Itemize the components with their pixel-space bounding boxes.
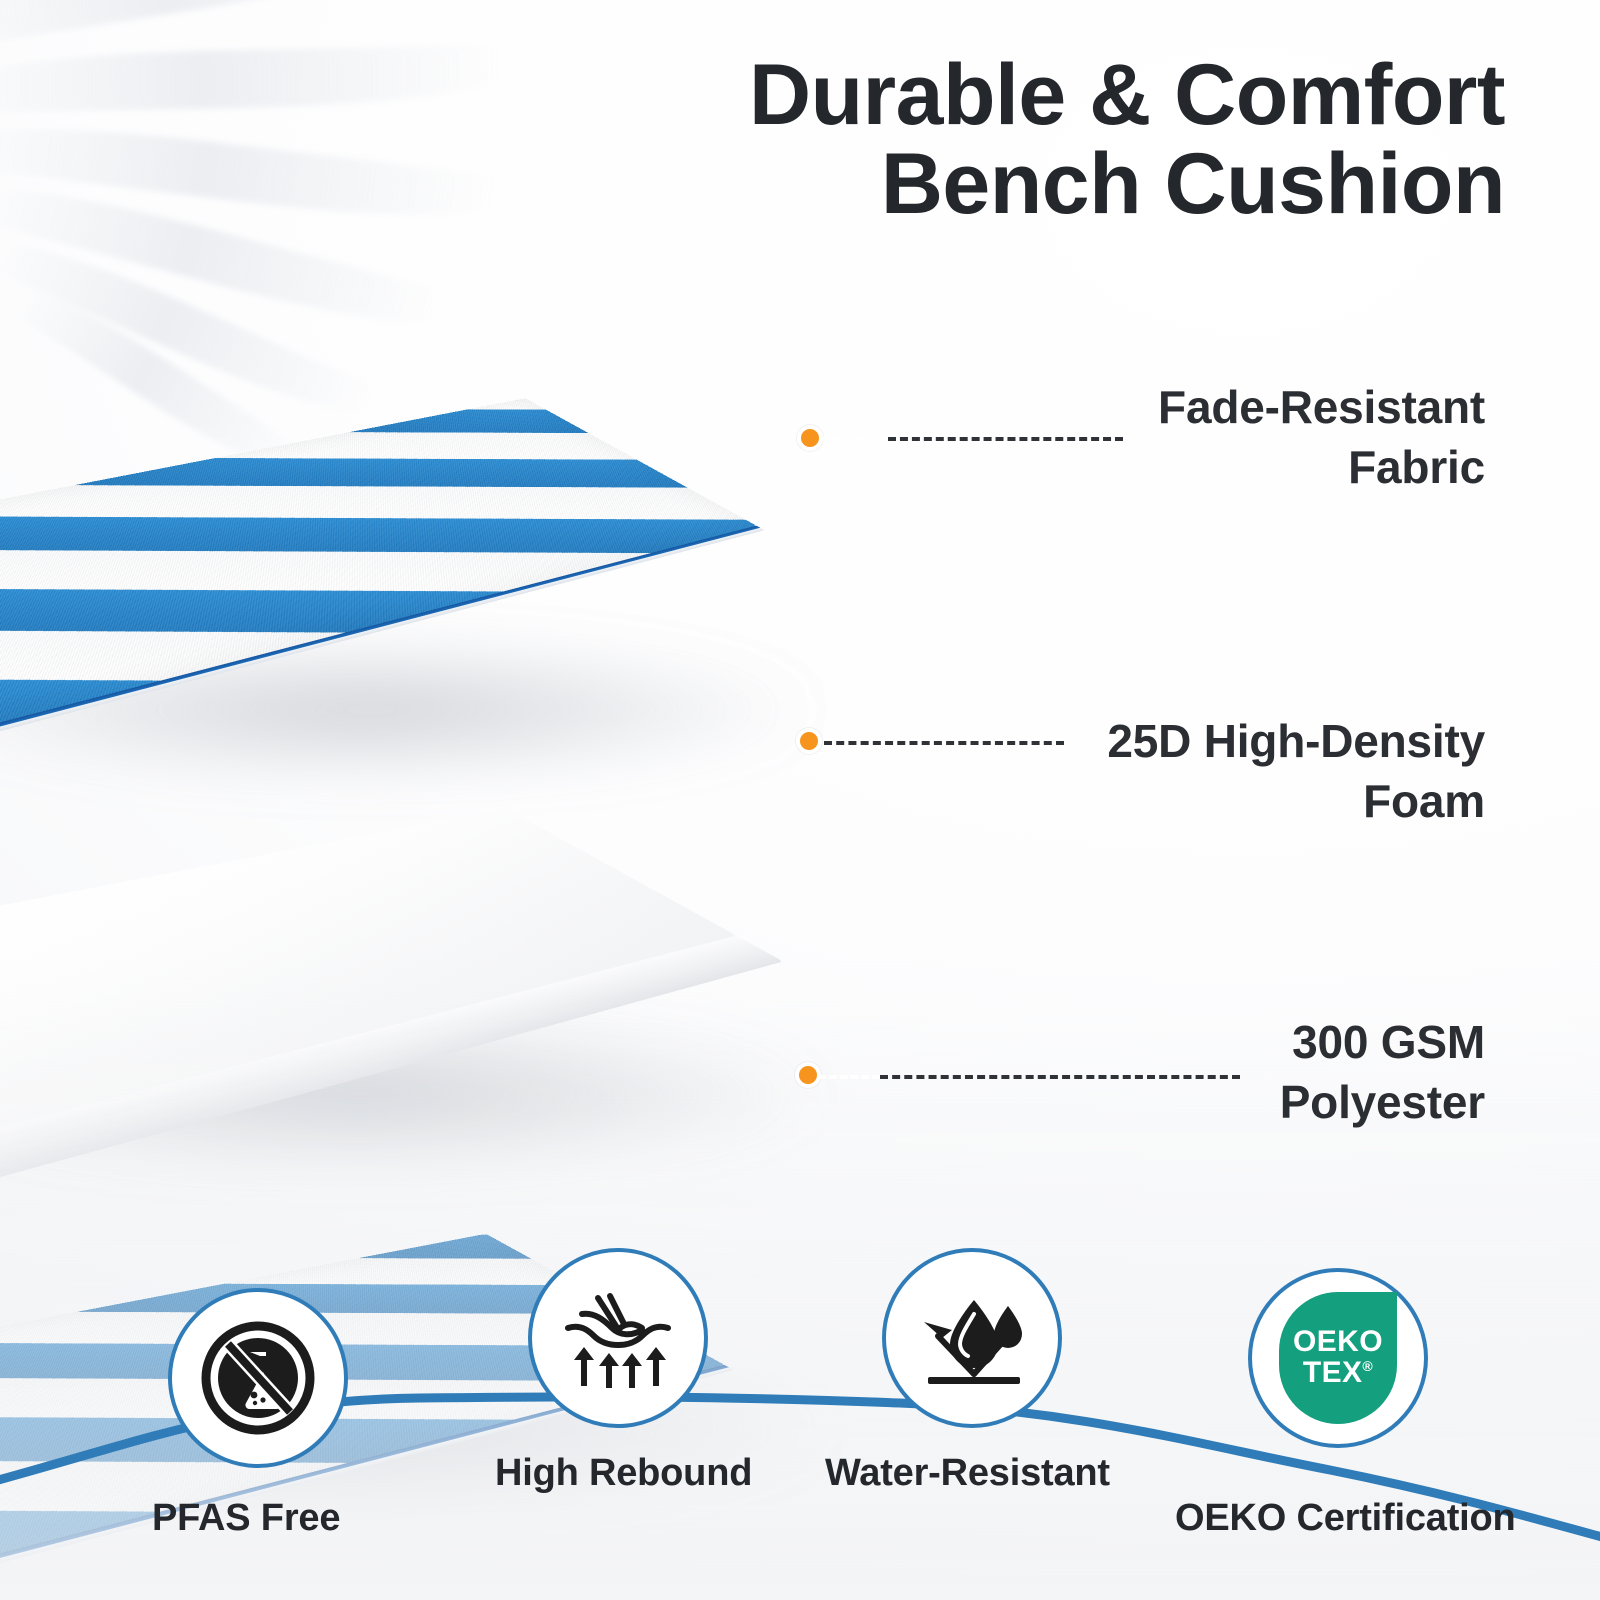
feature-label-pfas-free: PFAS Free [152,1497,340,1540]
callout-label-line-2: Fabric [1348,441,1485,493]
callout-label-line-2: Polyester [1280,1076,1485,1128]
callout-label: 25D High-Density Foam [925,712,1485,832]
feature-label-high-rebound: High Rebound [495,1452,752,1495]
callout-label: 300 GSM Polyester [925,1013,1485,1133]
oeko-logo-line-2: TEX® [1303,1358,1373,1389]
oeko-tex-logo-icon: OEKO TEX® [1279,1292,1397,1424]
callout-label-line-1: 25D High-Density [1107,715,1485,767]
feature-label-water-resistant: Water-Resistant [825,1452,1110,1495]
water-droplet-repel-icon [912,1284,1032,1392]
callout-label-line-2: Foam [1363,775,1485,827]
feature-badge-high-rebound[interactable] [528,1248,708,1428]
no-chemicals-flask-icon [198,1318,318,1438]
callout-label-line-1: Fade-Resistant [1158,381,1485,433]
callout-leader-line-on-fabric [820,437,888,441]
cushion-rebound-arrows-icon [558,1284,678,1392]
feature-label-oeko-certification: OEKO Certification [1175,1497,1516,1540]
callout-label: Fade-Resistant Fabric [925,378,1485,498]
title-line-2: Bench Cushion [749,140,1505,229]
feature-badge-water-resistant[interactable] [882,1248,1062,1428]
callout-label-line-1: 300 GSM [1292,1016,1485,1068]
callout-leader-line-on-fabric [818,1075,880,1079]
oeko-logo-line-1: OEKO [1293,1327,1383,1358]
feature-badge-pfas-free[interactable] [168,1288,348,1468]
product-infographic: Durable & Comfort Bench Cushion Fade-Res… [0,0,1600,1600]
feature-badge-oeko-certification[interactable]: OEKO TEX® [1248,1268,1428,1448]
callout-marker-dot [796,728,822,754]
page-title: Durable & Comfort Bench Cushion [749,51,1505,228]
title-line-1: Durable & Comfort [749,51,1505,140]
